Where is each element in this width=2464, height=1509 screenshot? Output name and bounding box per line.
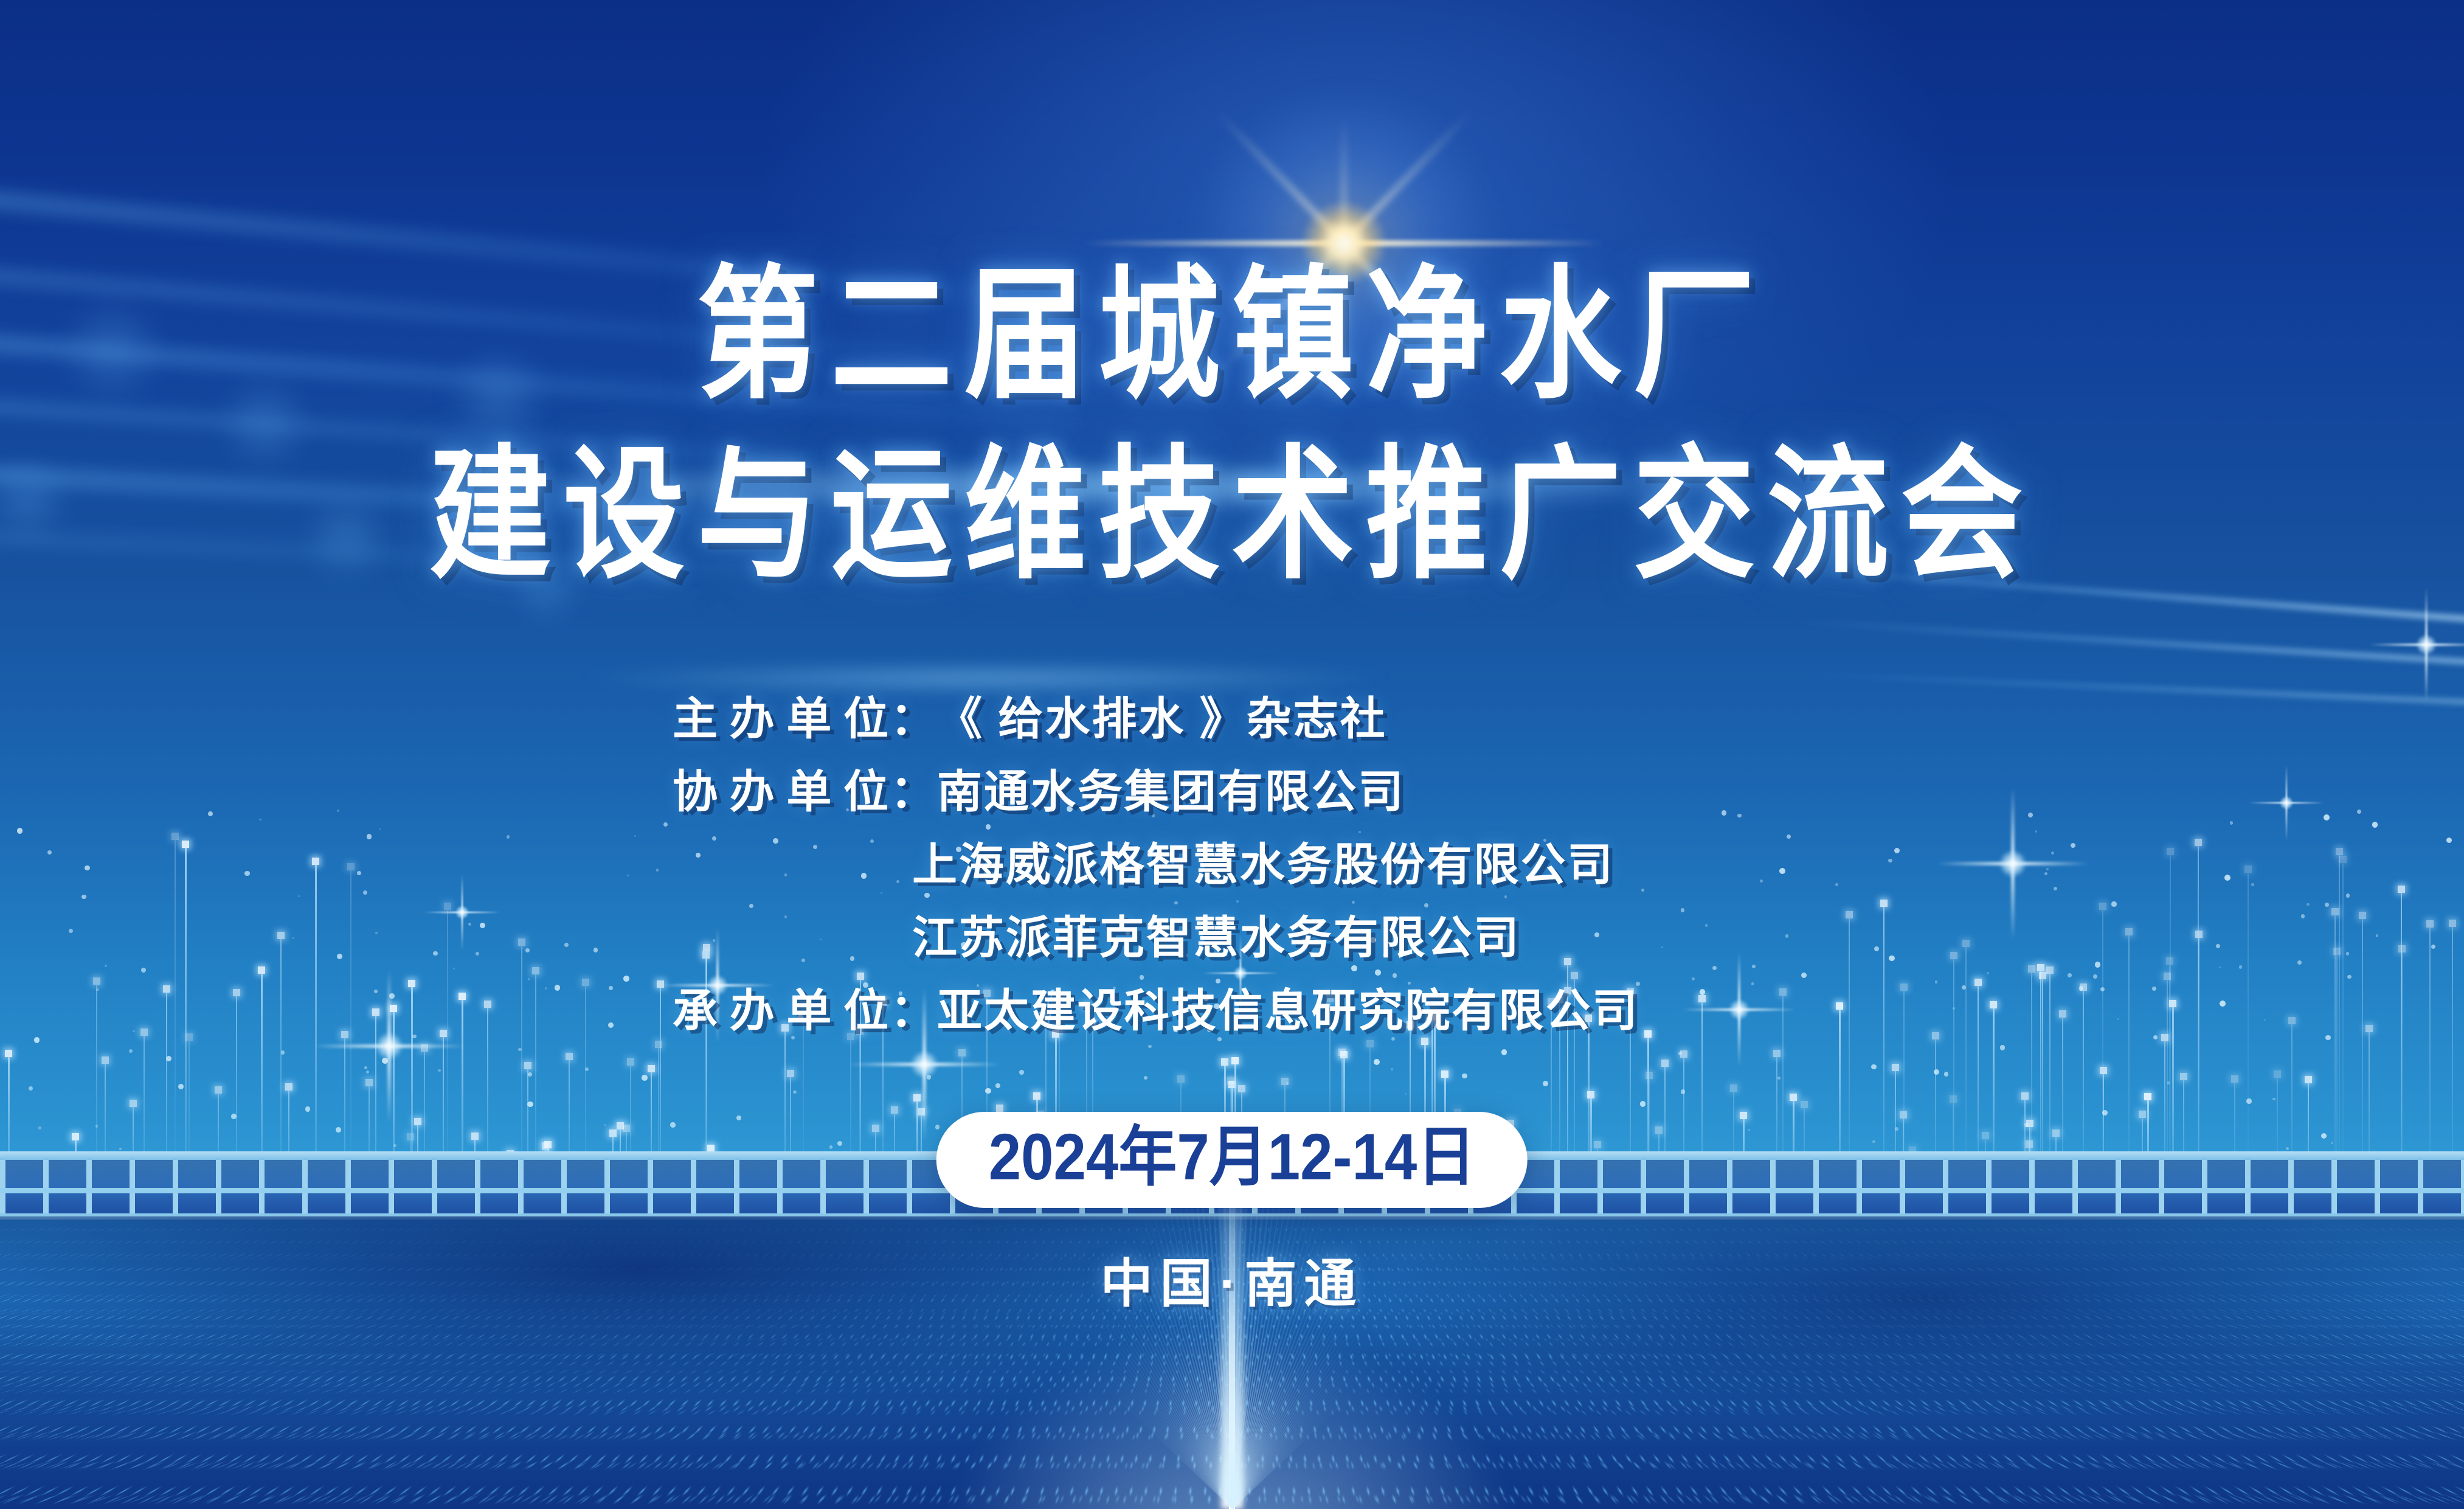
date-badge-text: 2024年7月12-14日: [989, 1122, 1475, 1193]
organizer-label: 协办单位: [673, 755, 890, 828]
organizer-label: 承办单位: [673, 974, 890, 1047]
organizer-label: 主办单位: [673, 682, 890, 755]
title-line-1: 第二届城镇净水厂: [0, 248, 2464, 423]
organizer-label: [673, 901, 890, 974]
organizer-colon: ：: [890, 682, 937, 755]
location-label: 中国·南通: [0, 1241, 2464, 1317]
organizer-colon: ：: [890, 974, 937, 1047]
organizer-label: [673, 828, 890, 901]
organizer-list: 主办单位 ： 《 给水排水 》杂志社 协办单位 ： 南通水务集团有限公司 上海威…: [0, 682, 2464, 1047]
organizer-value: 南通水务集团有限公司: [937, 755, 1791, 828]
conference-poster: 第二届城镇净水厂 建设与运维技术推广交流会 主办单位 ： 《 给水排水 》杂志社…: [0, 0, 2464, 1509]
organizer-colon: [890, 828, 912, 901]
organizer-colon: ：: [890, 755, 937, 828]
organizer-row: 协办单位 ： 南通水务集团有限公司: [673, 755, 1791, 828]
location-text: 中国·南通: [1101, 1255, 1364, 1313]
organizer-value: 亚太建设科技信息研究院有限公司: [937, 974, 1791, 1047]
organizer-value: 上海威派格智慧水务股份有限公司: [912, 828, 1791, 901]
date-badge: 2024年7月12-14日: [936, 1112, 1528, 1208]
organizer-row: 江苏派菲克智慧水务有限公司: [673, 901, 1791, 974]
organizer-row: 主办单位 ： 《 给水排水 》杂志社: [673, 682, 1791, 755]
poster-title: 第二届城镇净水厂 建设与运维技术推广交流会: [0, 262, 2464, 590]
organizer-value: 江苏派菲克智慧水务有限公司: [912, 901, 1791, 974]
title-line-2: 建设与运维技术推广交流会: [0, 428, 2464, 603]
organizer-value: 《 给水排水 》杂志社: [937, 682, 1791, 755]
organizer-row: 承办单位 ： 亚太建设科技信息研究院有限公司: [673, 974, 1791, 1047]
organizer-row: 上海威派格智慧水务股份有限公司: [673, 828, 1791, 901]
organizer-colon: [890, 901, 912, 974]
